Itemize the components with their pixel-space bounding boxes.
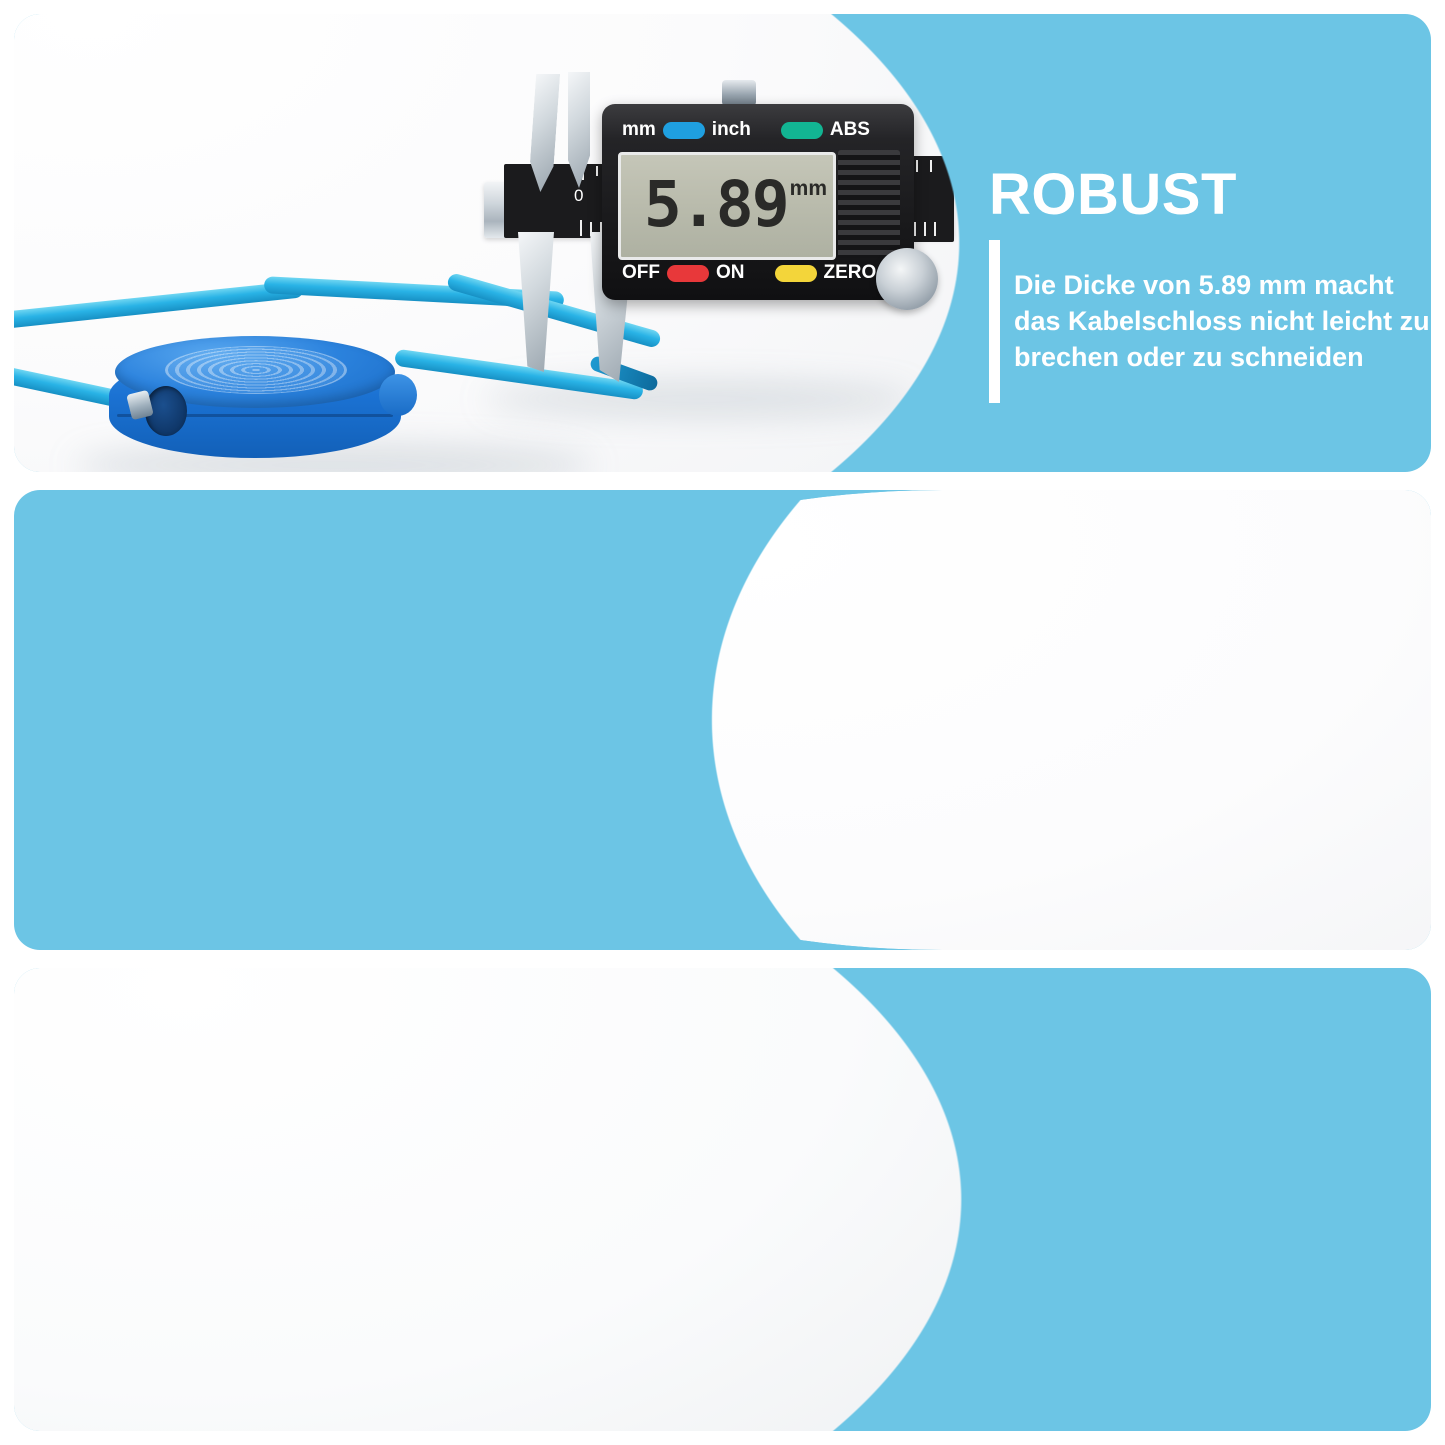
zero-button[interactable] <box>775 265 817 282</box>
photo-durable <box>14 968 966 1431</box>
panel-high-security: ROCKBROS HIGH SECURITY Mit hochfestem Ve… <box>14 490 1431 950</box>
photo-robust: 0 <box>14 14 964 472</box>
red-lock-scene: ROCKBROS <box>14 490 1431 950</box>
lock-ear <box>379 374 417 416</box>
button-label-inch: inch <box>712 119 751 141</box>
caliper-housing: mm inch ABS 5.89 mm <box>602 104 914 300</box>
button-label-mm: mm <box>622 119 656 141</box>
panel-robust: 0 <box>14 14 1431 472</box>
lcd-measurement-unit: mm <box>790 177 827 201</box>
abs-button[interactable] <box>781 122 823 139</box>
headline-robust: ROBUST <box>989 166 1430 224</box>
caliper-scene: 0 <box>14 14 964 472</box>
lcd-measurement-value: 5.89 <box>644 173 788 236</box>
button-label-on: ON <box>716 262 745 284</box>
caliper-jaw-lower-left <box>518 232 554 372</box>
button-label-off: OFF <box>622 262 660 284</box>
button-label-zero: ZERO <box>824 262 877 284</box>
panel-durable: DURABLE PVC-Beschichtung verhindert Krat… <box>14 968 1431 1431</box>
caliper-lock-screw[interactable] <box>722 80 756 106</box>
caliper-top-button-row: mm inch ABS <box>622 119 870 141</box>
on-off-button[interactable] <box>667 265 709 282</box>
caliper-grip-ridges <box>838 150 900 258</box>
cable-blue-segment-upper <box>14 280 304 328</box>
button-label-abs: ABS <box>830 119 870 141</box>
mm-inch-button[interactable] <box>663 122 705 139</box>
accent-bar <box>989 240 1000 403</box>
vernier-zero-label: 0 <box>574 186 583 206</box>
text-block-robust: ROBUST Die Dicke von 5.89 mm macht das K… <box>989 166 1430 403</box>
infographic-page: 0 <box>0 0 1445 1445</box>
lock-head-blue <box>109 336 401 462</box>
caliper-lcd-display: 5.89 mm <box>618 152 836 260</box>
body-wrap-robust: Die Dicke von 5.89 mm macht das Kabelsch… <box>989 240 1430 403</box>
digital-caliper: 0 <box>484 72 974 402</box>
caliper-thumb-wheel[interactable] <box>876 248 938 310</box>
spiral-pattern-icon <box>165 346 347 394</box>
spiral-locks-scene <box>14 968 966 1431</box>
body-robust: Die Dicke von 5.89 mm macht das Kabelsch… <box>1014 267 1430 376</box>
caliper-bottom-button-row: OFF ON ZERO <box>622 262 876 284</box>
